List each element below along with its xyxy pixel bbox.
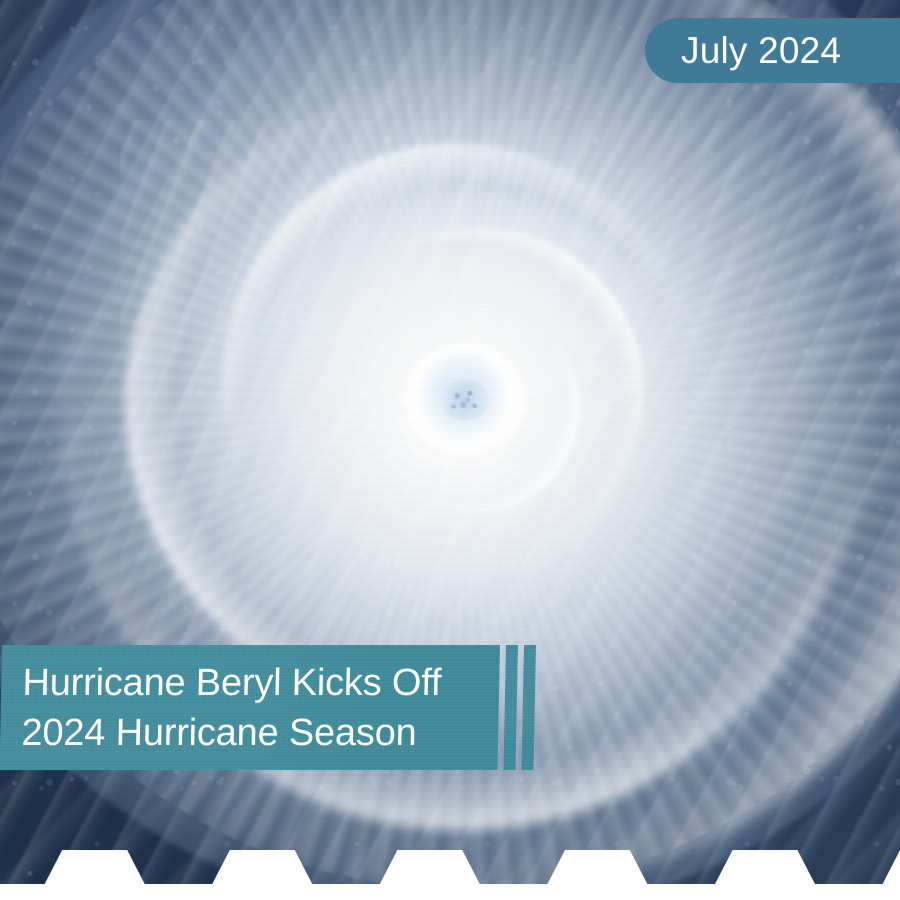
title-banner: Hurricane Beryl Kicks Off 2024 Hurricane… [0, 640, 560, 785]
page-title: Hurricane Beryl Kicks Off 2024 Hurricane… [21, 658, 493, 758]
cirrus-shear [120, 120, 880, 680]
banner-accent-strip-2 [521, 645, 536, 770]
title-line-1: Hurricane Beryl Kicks Off [22, 658, 493, 708]
banner-accent-strip-1 [503, 645, 518, 770]
date-badge: July 2024 [645, 18, 900, 83]
title-line-2: 2024 Hurricane Season [21, 708, 492, 758]
poster: July 2024 Hurricane Beryl Kicks Off 2024… [0, 0, 900, 900]
date-badge-label: July 2024 [681, 32, 841, 69]
